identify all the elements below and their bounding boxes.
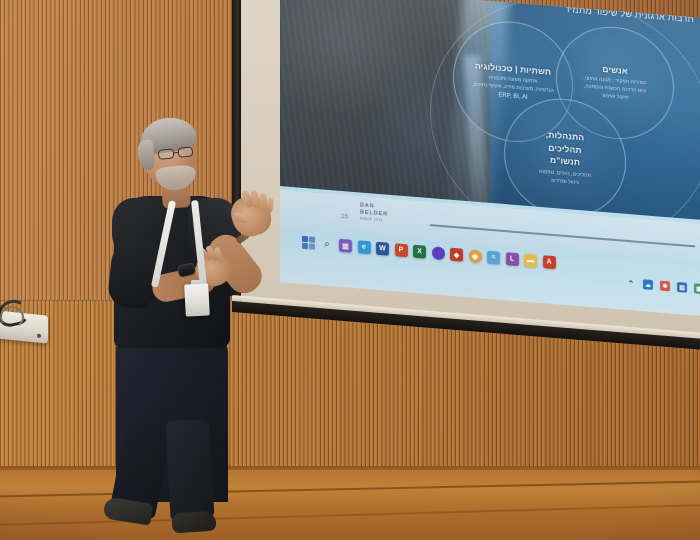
microsoft-edge-icon[interactable]: e bbox=[358, 240, 371, 254]
media-player-icon[interactable]: ◆ bbox=[450, 248, 463, 262]
floor-seam-2 bbox=[0, 504, 700, 526]
venn-sub-processes: תהליכים, נהלים, טפסות ניהול ומדדים bbox=[539, 167, 591, 187]
floor bbox=[0, 470, 700, 540]
adobe-acrobat-icon[interactable]: A bbox=[543, 255, 556, 269]
system-tray[interactable]: ⌃☁✱▤▦ bbox=[626, 278, 700, 294]
onedrive-cloud-icon[interactable]: ☁ bbox=[643, 279, 653, 290]
network-icon[interactable]: ▤ bbox=[677, 282, 687, 293]
bracket-hole bbox=[37, 334, 41, 338]
slide-page-number: 15 bbox=[341, 213, 348, 221]
powerpoint-icon[interactable]: P bbox=[395, 243, 408, 257]
frame-left-edge bbox=[232, 0, 241, 311]
task-view-icon[interactable]: ▥ bbox=[339, 239, 352, 253]
venn-diagram: תשתיות | טכנולוגיה אחזקה מונעת ותכנונית … bbox=[280, 0, 700, 221]
google-chrome-icon[interactable]: ◉ bbox=[469, 249, 482, 263]
search-icon[interactable]: ⌕ bbox=[321, 237, 334, 251]
projected-desktop: תרבות ארגונית של שיפור מתמיד תשתיות | טכ… bbox=[280, 0, 700, 317]
start-button-icon[interactable] bbox=[302, 236, 315, 250]
antivirus-shield-icon[interactable]: ✱ bbox=[660, 281, 670, 292]
file-explorer-icon[interactable]: ▬ bbox=[524, 254, 537, 268]
powerpoint-slide: תרבות ארגונית של שיפור מתמיד תשתיות | טכ… bbox=[280, 0, 700, 221]
venn-extra-technology: ERP, BI, AI bbox=[498, 93, 527, 101]
calculator-icon[interactable]: ▦ bbox=[694, 283, 700, 294]
show-hidden-icons-chevron-icon[interactable]: ⌃ bbox=[626, 278, 636, 289]
microsoft-word-icon[interactable]: W bbox=[376, 242, 389, 256]
photo-scene: תרבות ארגונית של שיפור מתמיד תשתיות | טכ… bbox=[0, 0, 700, 540]
onenote-icon[interactable]: ≡ bbox=[487, 251, 500, 265]
outlook-circle-icon[interactable] bbox=[432, 246, 445, 260]
presenter-logo: DAN BELDER SINCE 2012 bbox=[360, 202, 388, 222]
skype-business-icon[interactable]: L bbox=[506, 252, 519, 266]
floor-seam bbox=[0, 481, 700, 498]
venn-heading-people: אנשים bbox=[602, 64, 627, 76]
venn-sub-people: הגדרות תפקיד , מבנה ארגוני, גיוס הדרכה ה… bbox=[583, 74, 646, 103]
microsoft-excel-icon[interactable]: X bbox=[413, 245, 426, 259]
venn-heading-processes: התנהלות, תהליכים תנשו"מ bbox=[546, 129, 584, 169]
